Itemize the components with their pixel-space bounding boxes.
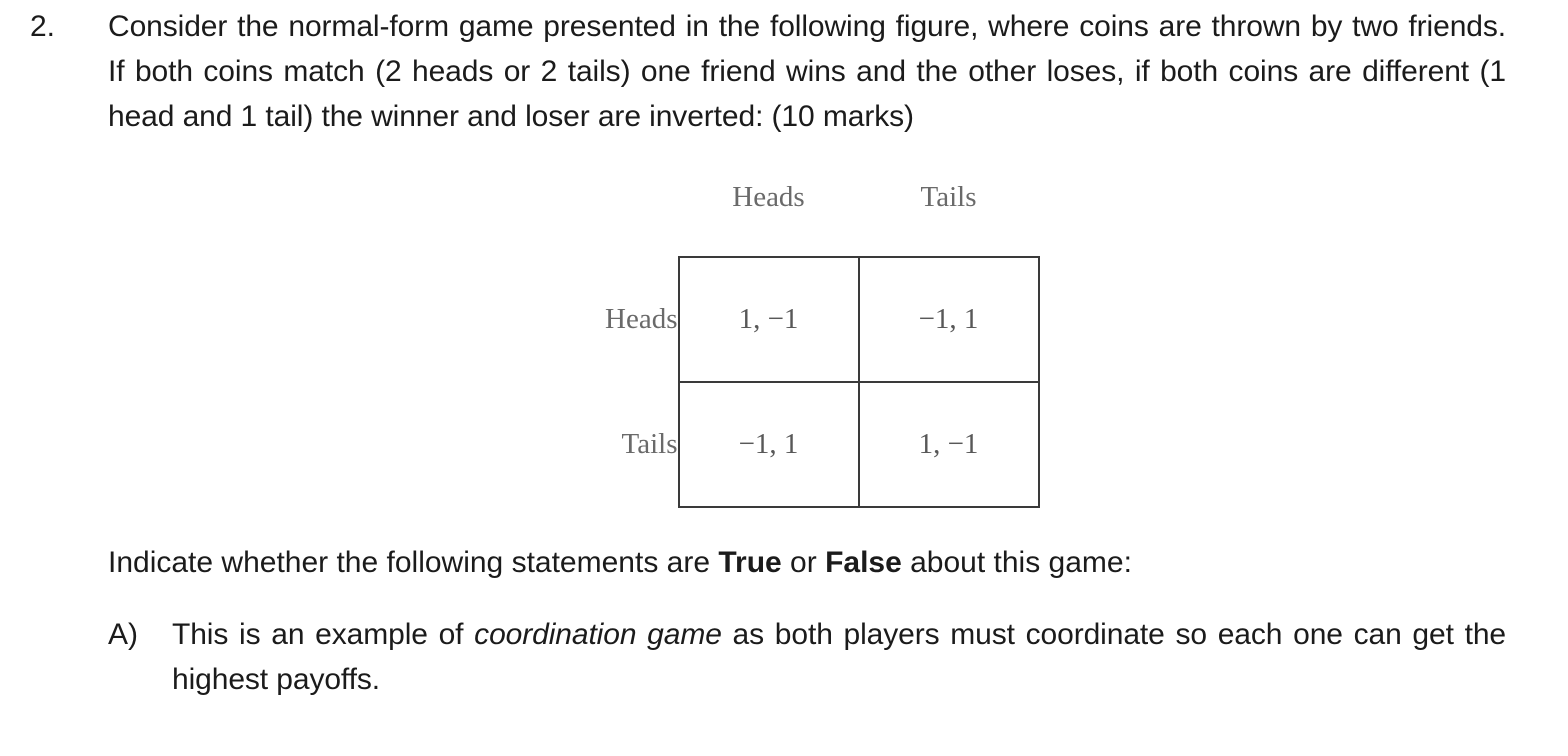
matrix-header-row: Heads Tails xyxy=(529,168,1039,226)
instruction-middle: or xyxy=(782,546,825,579)
statement-a-emphasis: coordination game xyxy=(474,618,722,651)
matrix-row-heads: Heads 1, −1 −1, 1 xyxy=(529,257,1039,382)
matrix-row-header-tails: Tails xyxy=(529,382,679,507)
instruction-after: about this game: xyxy=(902,546,1132,579)
statement-a-before: This is an example of xyxy=(172,618,474,651)
matrix-spacer-cell xyxy=(859,226,1039,257)
document-page: 2. Consider the normal-form game present… xyxy=(0,0,1568,756)
matrix-row-header-heads: Heads xyxy=(529,257,679,382)
question-marks: (10 marks) xyxy=(772,100,914,133)
instruction-false-label: False xyxy=(825,546,902,579)
instruction-line: Indicate whether the following statement… xyxy=(108,540,1508,585)
matrix-cell-tails-heads: −1, 1 xyxy=(679,382,859,507)
matrix-column-header-heads: Heads xyxy=(679,168,859,226)
matrix-cell-heads-tails: −1, 1 xyxy=(859,257,1039,382)
question-block: 2. Consider the normal-form game present… xyxy=(0,4,1568,139)
matrix-column-header-tails: Tails xyxy=(859,168,1039,226)
instruction-before: Indicate whether the following statement… xyxy=(108,546,718,579)
statement-a-label: A) xyxy=(0,612,172,657)
matrix-cell-heads-heads: 1, −1 xyxy=(679,257,859,382)
instruction-true-label: True xyxy=(718,546,781,579)
matrix-corner-cell xyxy=(529,168,679,226)
statement-a-text: This is an example of coordination game … xyxy=(172,612,1568,702)
matrix-cell-tails-tails: 1, −1 xyxy=(859,382,1039,507)
payoff-matrix: Heads Tails Heads 1, −1 −1, 1 Tails −1, … xyxy=(529,168,1040,508)
question-number: 2. xyxy=(0,4,108,49)
question-text: Consider the normal-form game presented … xyxy=(108,4,1568,139)
matrix-row-tails: Tails −1, 1 1, −1 xyxy=(529,382,1039,507)
payoff-matrix-figure: Heads Tails Heads 1, −1 −1, 1 Tails −1, … xyxy=(0,168,1568,508)
matrix-spacer-cell xyxy=(679,226,859,257)
statement-a: A) This is an example of coordination ga… xyxy=(0,612,1568,702)
matrix-spacer-cell xyxy=(529,226,679,257)
matrix-spacer-row xyxy=(529,226,1039,257)
